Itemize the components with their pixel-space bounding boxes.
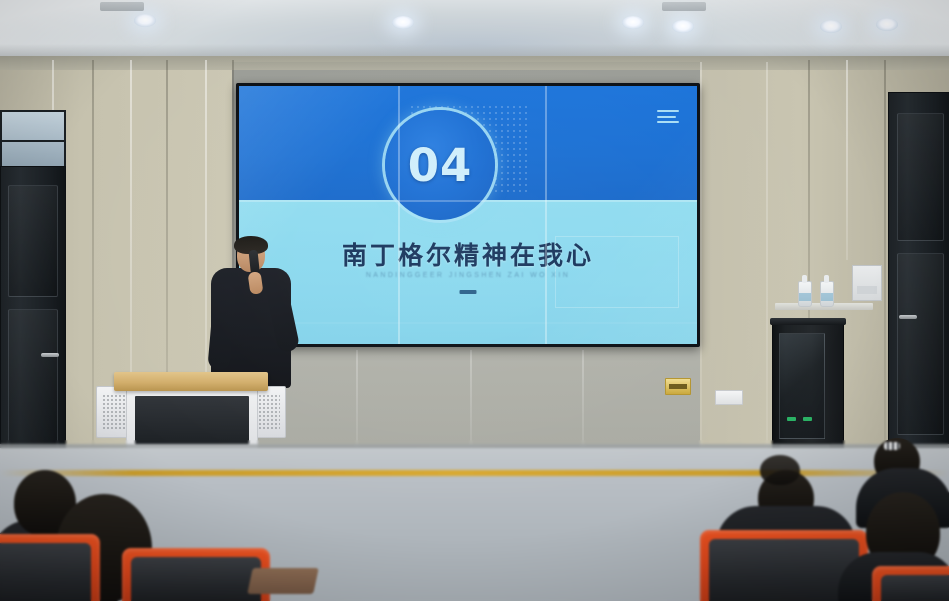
door-panel (8, 185, 58, 297)
entrance-door-left[interactable] (0, 166, 66, 488)
rack-top-surface (770, 318, 846, 325)
audience-head (760, 455, 800, 485)
lectern-wood-top (114, 372, 268, 391)
display-tile-seam (239, 200, 697, 202)
ceiling-air-vent (100, 2, 144, 11)
wall-panel-seam (92, 60, 94, 446)
wall-panel-seam (356, 350, 358, 448)
hamburger-icon (657, 110, 679, 123)
presentation-hall-photo: 04 南丁格尔精神在我心 NANDINGGEER JINGSHEN ZAI WO… (0, 0, 949, 601)
display-tile-seam (239, 322, 697, 324)
display-tile-seam (545, 86, 547, 344)
display-tile-seam (398, 86, 400, 344)
bottle-label (821, 293, 833, 301)
slide-canvas: 04 南丁格尔精神在我心 NANDINGGEER JINGSHEN ZAI WO… (239, 86, 697, 344)
wall-panel-seam (884, 60, 886, 446)
slide-title: 南丁格尔精神在我心 (239, 236, 697, 272)
power-outlet-white[interactable] (715, 390, 743, 405)
rack-status-led (787, 417, 796, 421)
door-panel (897, 253, 944, 435)
hand-sanitizer-bottle[interactable] (820, 281, 834, 307)
chair-seat-back (881, 575, 949, 601)
wall-panel-seam (766, 62, 768, 448)
section-number-badge: 04 (385, 110, 495, 220)
door-handle-icon[interactable] (41, 353, 59, 357)
wall-notice-board (852, 265, 882, 301)
power-outlet-yellow[interactable] (665, 378, 691, 395)
entrance-door-right[interactable] (888, 92, 949, 496)
ceiling-air-vent (662, 2, 706, 11)
wall-panel-seam (470, 350, 472, 448)
door-panel (897, 113, 944, 241)
ceiling-downlight (392, 16, 414, 29)
slide-subtitle: NANDINGGEER JINGSHEN ZAI WO XIN (239, 272, 697, 279)
slide-divider-dash (460, 290, 477, 294)
lectern-upper-panel (135, 396, 249, 444)
wall-panel-seam (700, 62, 702, 448)
rack-status-led (803, 417, 812, 421)
door-panel (8, 309, 58, 461)
wall-panel-seam (846, 60, 848, 260)
chair-writing-tablet[interactable] (247, 568, 319, 594)
video-wall-display[interactable]: 04 南丁格尔精神在我心 NANDINGGEER JINGSHEN ZAI WO… (236, 83, 700, 347)
ceiling-downlight (876, 18, 898, 31)
chair-seat-back (0, 543, 91, 601)
presenter (205, 238, 297, 388)
hand-sanitizer-bottle[interactable] (798, 281, 812, 307)
section-number-text: 04 (408, 139, 473, 192)
ceiling-downlight (622, 16, 644, 29)
hair-clip (884, 442, 900, 450)
wall-top-band (0, 56, 949, 70)
door-transom-left (0, 110, 66, 170)
floor-warning-stripe (0, 470, 949, 476)
bottle-label (799, 293, 811, 301)
audience-chair[interactable] (872, 566, 949, 601)
chair-seat-back (709, 539, 859, 601)
speaker-grille (102, 394, 128, 430)
wall-panel-seam (582, 350, 584, 448)
audience-chair[interactable] (0, 534, 100, 601)
ceiling-downlight (134, 14, 156, 27)
door-handle-icon[interactable] (899, 315, 917, 319)
rack-glass-door[interactable] (779, 333, 825, 439)
ceiling-downlight (820, 20, 842, 33)
ceiling-downlight (672, 20, 694, 33)
chair-seat-back (131, 557, 261, 601)
